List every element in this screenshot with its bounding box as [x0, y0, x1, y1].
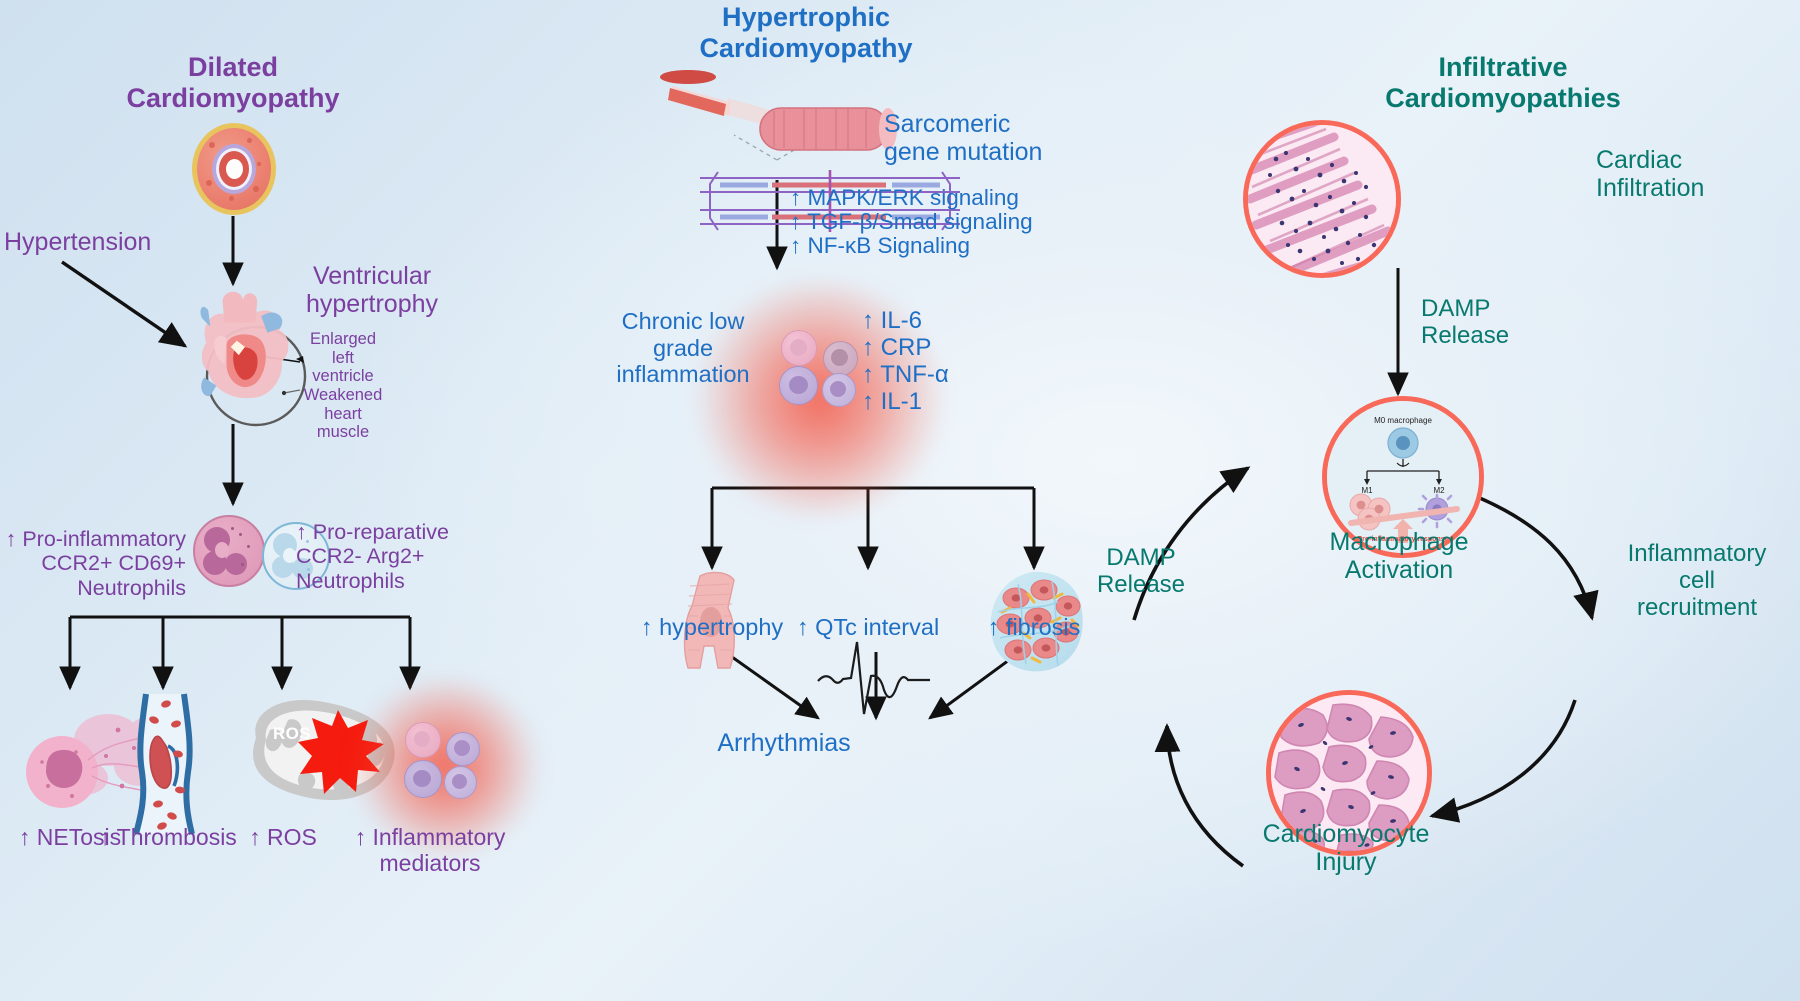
m1-label: M1 — [1361, 486, 1373, 495]
tgf-beta-smad-signaling-label: ↑ TGF-β/Smad signaling — [790, 209, 1033, 234]
mediator-cell — [444, 766, 477, 799]
qtc-interval-outcome-label: ↑ QTc interval — [766, 614, 970, 641]
mapk-erk-signaling-label: ↑ MAPK/ERK signaling — [790, 185, 1019, 210]
hypertension-label: Hypertension — [4, 228, 151, 256]
m2-label: M2 — [1433, 486, 1445, 495]
arrhythmias-label: Arrhythmias — [684, 729, 884, 757]
m0-macrophage-label: M0 macrophage — [1374, 416, 1432, 425]
dilated-cardiomyopathy-title: Dilated Cardiomyopathy — [113, 52, 353, 113]
weakened-heart-muscle-label: Weakened heart muscle — [290, 386, 396, 442]
cardiac-infiltration-histology — [1243, 120, 1401, 278]
hypertrophic-cardiomyopathy-title: Hypertrophic Cardiomyopathy — [686, 2, 926, 63]
pro-inflammatory-neutrophil-art — [193, 515, 265, 587]
mediator-cell — [405, 722, 441, 758]
inflammation-cell — [822, 373, 856, 407]
tnf-alpha-label: ↑ TNF-α — [862, 361, 949, 388]
ros-label: ↑ ROS — [228, 824, 338, 850]
enlarged-left-ventricle-label: Enlarged left ventricle — [290, 330, 396, 386]
ventricular-hypertrophy-label: Ventricular hypertrophy — [272, 262, 472, 319]
inflammatory-cell-recruitment-label: Inflammatory cell recruitment — [1594, 540, 1800, 621]
sarcomeric-gene-mutation-label: Sarcomeric gene mutation — [884, 110, 1124, 167]
damp-release-left-label: DAMP Release — [1076, 544, 1206, 598]
il1-label: ↑ IL-1 — [862, 388, 922, 415]
cardiac-infiltration-label: Cardiac Infiltration — [1596, 146, 1776, 203]
diagram-canvas: M0 macrophage M1 M2 — [0, 0, 1800, 1001]
mediator-cell — [446, 732, 480, 766]
ros-badge: ROS — [262, 722, 322, 746]
inflammation-cell — [781, 330, 817, 366]
pro-inflammatory-neutrophils-label: ↑ Pro-inflammatory CCR2+ CD69+ Neutrophi… — [0, 527, 186, 600]
inflammation-cell — [779, 366, 818, 405]
vessel-cross-section-art — [192, 123, 276, 215]
chronic-low-grade-inflammation-label: Chronic low grade inflammation — [588, 308, 778, 388]
il6-label: ↑ IL-6 — [862, 307, 922, 334]
crp-label: ↑ CRP — [862, 334, 931, 361]
inflammatory-mediators-label: ↑ Inflammatory mediators — [340, 824, 520, 876]
fibrosis-outcome-label: ↑ fibrosis — [954, 614, 1114, 641]
infiltrative-cardiomyopathies-title: Infiltrative Cardiomyopathies — [1368, 52, 1638, 113]
thrombosis-label: ↑ Thrombosis — [93, 824, 243, 850]
damp-release-top-label: DAMP Release — [1421, 295, 1561, 349]
macrophage-activation-label: Macrophage Activation — [1274, 528, 1524, 585]
pro-reparative-neutrophils-label: ↑ Pro-reparative CCR2- Arg2+ Neutrophils — [296, 520, 526, 593]
mediator-cell — [404, 760, 442, 798]
nf-kb-signaling-label: ↑ NF-κB Signaling — [790, 233, 970, 258]
cardiomyocyte-injury-label: Cardiomyocyte Injury — [1226, 820, 1466, 877]
inflammation-cell — [823, 341, 858, 376]
